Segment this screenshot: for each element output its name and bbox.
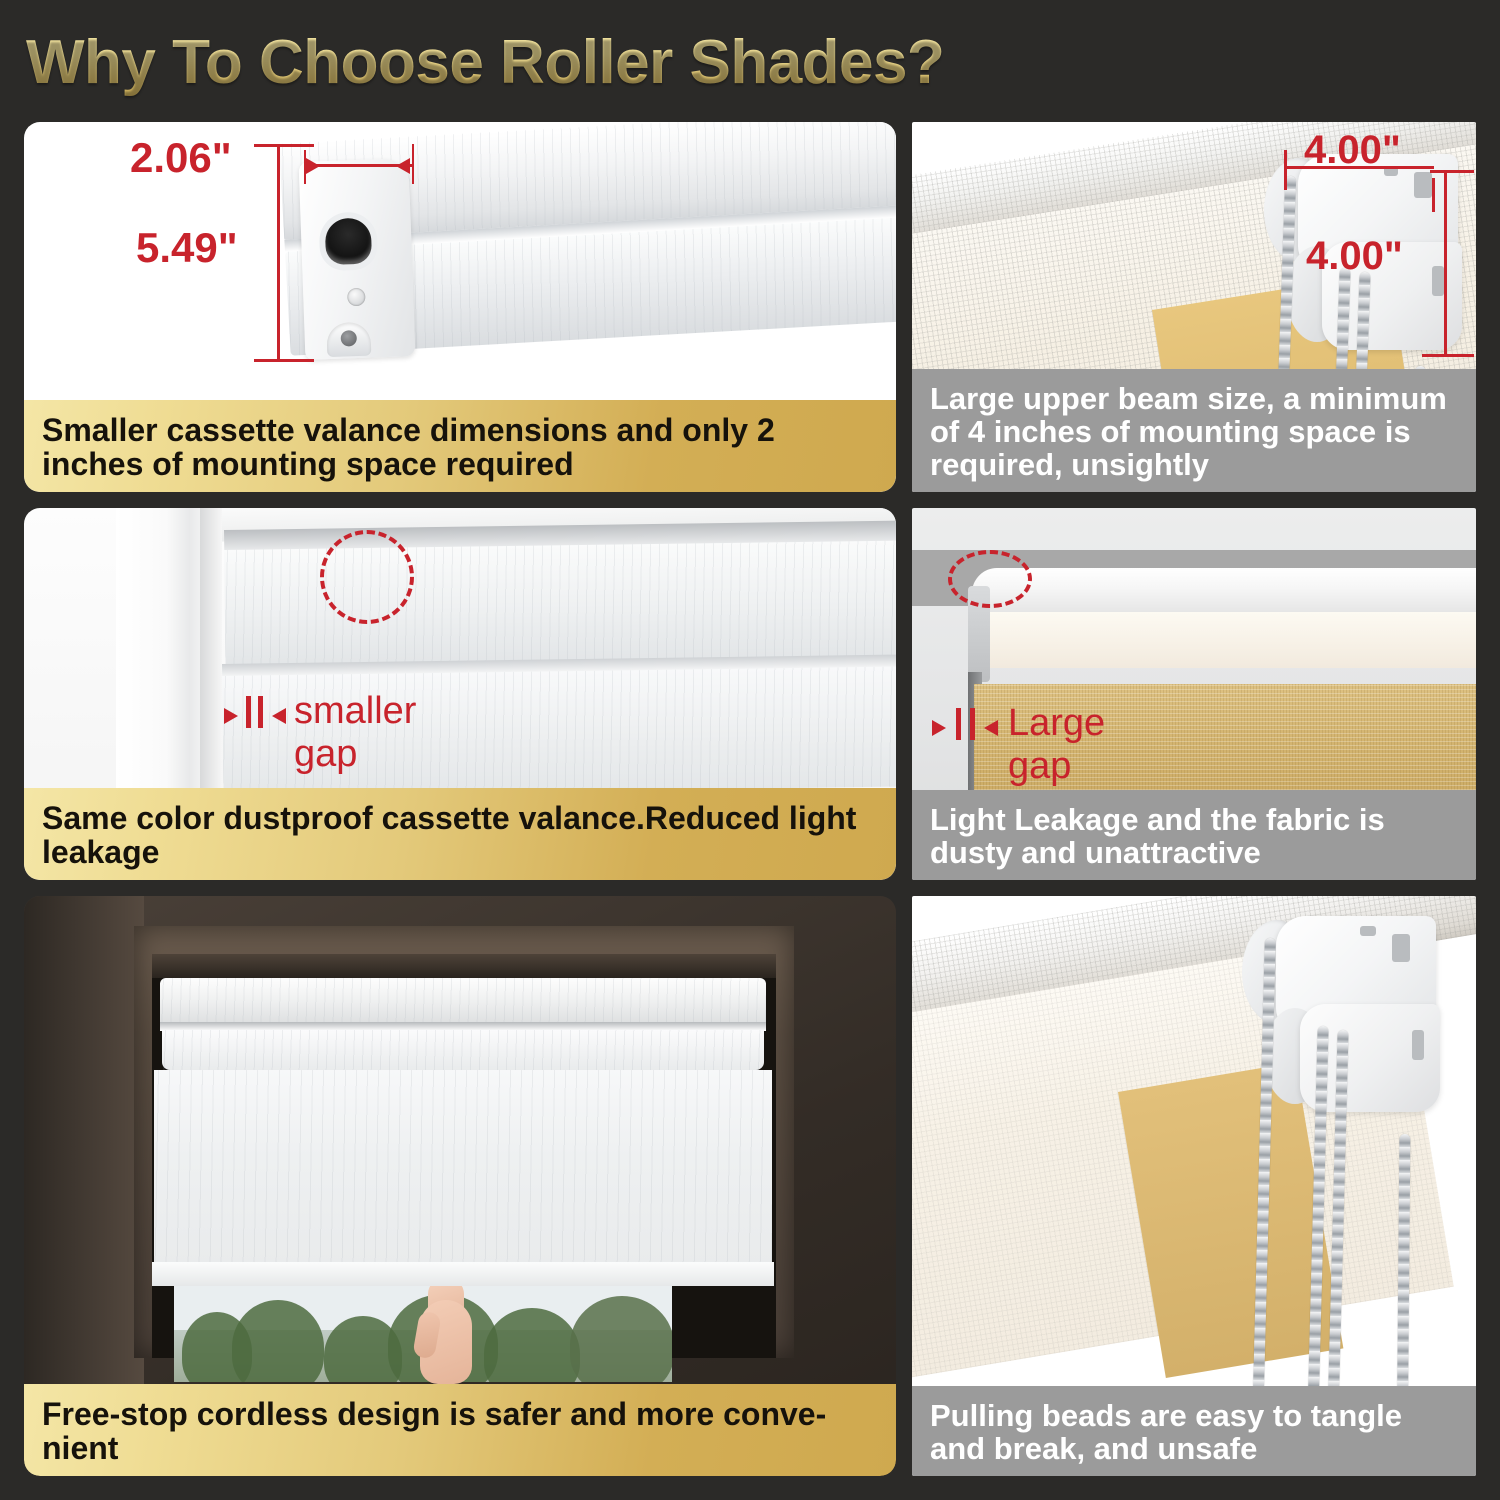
caption-pro-cassette-dimensions: Smaller cassette valance dimensions and … bbox=[24, 400, 896, 492]
caption-text-line1: Free-stop cordless design is safer and m… bbox=[42, 1398, 826, 1432]
panel-con-light-leakage: Large gap Light Leakage and the fabric i… bbox=[912, 508, 1476, 880]
gap-callout-label: smaller gap bbox=[294, 690, 416, 776]
cord-slot-icon bbox=[325, 218, 373, 266]
caption-text-line2: nient bbox=[42, 1432, 826, 1466]
caption-con-light-leakage: Light Leakage and the fabric is dusty an… bbox=[912, 790, 1476, 880]
caption-pro-cordless-design: Free-stop cordless design is safer and m… bbox=[24, 1384, 896, 1476]
page-header: Why To Choose Roller Shades? bbox=[26, 14, 1466, 110]
panel-con-pulling-beads: Pulling beads are easy to tangle and bre… bbox=[912, 896, 1476, 1476]
panel-pro-dustproof-valance: smaller gap Same color dustproof cassett… bbox=[24, 508, 896, 880]
panel-pro-cordless-design: Free-stop cordless design is safer and m… bbox=[24, 896, 896, 1476]
gap-callout-label: Large gap bbox=[1008, 702, 1105, 788]
highlight-circle bbox=[948, 550, 1032, 608]
height-dimension-label: 5.49" bbox=[136, 224, 238, 272]
caption-text: Same color dustproof cassette valance.Re… bbox=[42, 802, 878, 870]
panel-con-large-upper-beam: 4.00" 4.00" Large upper beam size, a min… bbox=[912, 122, 1476, 492]
caption-text-line2: and break, and unsafe bbox=[930, 1433, 1402, 1466]
cassette-valance bbox=[160, 978, 766, 1026]
page-title: Why To Choose Roller Shades? bbox=[26, 27, 944, 98]
width-dimension-label: 2.06" bbox=[130, 134, 232, 182]
window-frame-left bbox=[116, 508, 208, 818]
shade-fabric bbox=[154, 1070, 772, 1264]
highlight-circle bbox=[320, 530, 414, 624]
caption-pro-dustproof-valance: Same color dustproof cassette valance.Re… bbox=[24, 788, 896, 880]
valance-end-cap bbox=[299, 158, 416, 360]
hand-illustration bbox=[416, 1278, 476, 1386]
width-dimension-label: 4.00" bbox=[1304, 128, 1401, 173]
mounting-pin bbox=[326, 322, 371, 358]
panel-pro-cassette-dimensions: 2.06" 5.49" Smaller cassette valance dim… bbox=[24, 122, 896, 492]
caption-con-large-upper-beam: Large upper beam size, a minimum of 4 in… bbox=[912, 369, 1476, 492]
caption-text: Smaller cassette valance dimensions and … bbox=[42, 414, 878, 482]
caption-text: Large upper beam size, a minimum of 4 in… bbox=[930, 383, 1458, 482]
shade-fabric-cream bbox=[974, 612, 1476, 668]
roller-tube bbox=[972, 568, 1476, 618]
caption-con-pulling-beads: Pulling beads are easy to tangle and bre… bbox=[912, 1386, 1476, 1476]
comparison-grid: 2.06" 5.49" Smaller cassette valance dim… bbox=[0, 110, 1500, 1490]
height-dimension-label: 4.00" bbox=[1306, 234, 1403, 279]
caption-text: Light Leakage and the fabric is dusty an… bbox=[930, 804, 1458, 870]
bottom-rail bbox=[152, 1262, 774, 1286]
caption-text-line1: Pulling beads are easy to tangle bbox=[930, 1400, 1402, 1433]
screw-icon bbox=[347, 288, 366, 307]
